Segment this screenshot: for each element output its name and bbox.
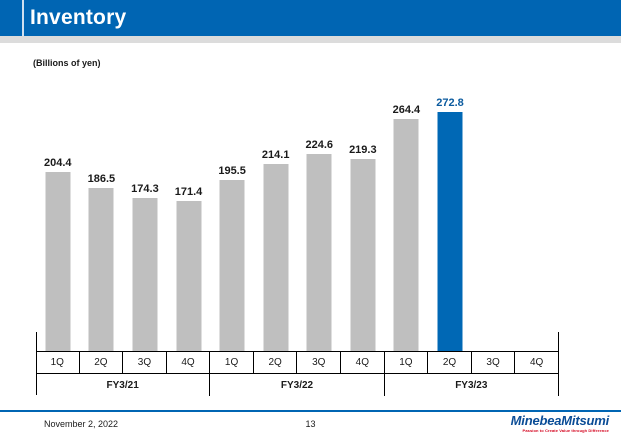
bar[interactable] (45, 172, 70, 351)
bar[interactable] (394, 119, 419, 351)
slide-header-bar: Inventory (0, 0, 621, 36)
axis-table: 1Q2Q3Q4Q1Q2Q3Q4Q1Q2Q3Q4Q FY3/21FY3/22FY3… (36, 351, 559, 396)
axis-fiscal-year-label: FY3/21 (36, 374, 210, 396)
axis-quarter-label: 3Q (123, 352, 167, 373)
bar-value-label: 272.8 (436, 97, 464, 109)
header-underline (0, 36, 621, 43)
axis-fiscal-year-label: FY3/23 (385, 374, 559, 396)
bar[interactable] (220, 180, 245, 351)
axis-quarter-label: 4Q (167, 352, 211, 373)
axis-quarter-label: 1Q (210, 352, 254, 373)
bar[interactable] (350, 159, 375, 351)
axis-tick-right (558, 332, 559, 351)
axis-quarter-label: 4Q (341, 352, 385, 373)
bar[interactable] (176, 201, 201, 351)
bar-slot: 186.5 (80, 70, 124, 351)
bar[interactable] (132, 198, 157, 351)
bar-slot: 264.4 (385, 70, 429, 351)
axis-quarter-label: 2Q (80, 352, 124, 373)
axis-quarter-label: 4Q (515, 352, 559, 373)
bar[interactable] (263, 164, 288, 352)
bar-slot: 224.6 (297, 70, 341, 351)
logo-wordmark: MinebeaMitsumi (511, 414, 609, 428)
bar-value-label: 214.1 (262, 149, 290, 161)
bar-value-label: 171.4 (175, 186, 203, 198)
bar-value-label: 186.5 (88, 173, 116, 185)
bar-value-label: 264.4 (393, 104, 421, 116)
axis-quarter-label: 1Q (36, 352, 80, 373)
bar-slot: 195.5 (210, 70, 254, 351)
axis-quarter-label: 3Q (297, 352, 341, 373)
bar-slot: 219.3 (341, 70, 385, 351)
axis-quarter-label: 3Q (472, 352, 516, 373)
company-logo: MinebeaMitsumi Passion to Create Value t… (511, 414, 609, 434)
logo-tagline: Passion to Create Value through Differen… (511, 428, 609, 434)
bar[interactable] (89, 188, 114, 351)
bar-slot: 204.4 (36, 70, 80, 351)
axis-quarter-label: 1Q (385, 352, 429, 373)
fiscal-year-label-row: FY3/21FY3/22FY3/23 (36, 373, 559, 396)
bar-value-label: 195.5 (218, 165, 246, 177)
bar-slot: 174.3 (123, 70, 167, 351)
bar-slot: 171.4 (167, 70, 211, 351)
bar-slot: 272.8 (428, 70, 472, 351)
footer-divider (0, 410, 621, 412)
chart-unit-label: (Billions of yen) (33, 58, 101, 68)
bar-chart-plot: 204.4186.5174.3171.4195.5214.1224.6219.3… (36, 70, 559, 351)
header-accent-line (22, 0, 24, 36)
quarter-label-row: 1Q2Q3Q4Q1Q2Q3Q4Q1Q2Q3Q4Q (36, 351, 559, 373)
bar-value-label: 219.3 (349, 144, 377, 156)
axis-tick-left (36, 332, 37, 351)
bar[interactable] (437, 112, 462, 351)
bar[interactable] (307, 154, 332, 351)
page-title: Inventory (30, 4, 126, 32)
bar-value-label: 204.4 (44, 157, 72, 169)
bar-value-label: 174.3 (131, 183, 159, 195)
bar-slot: 214.1 (254, 70, 298, 351)
axis-fiscal-year-label: FY3/22 (210, 374, 384, 396)
bar-slot (472, 70, 516, 351)
axis-quarter-label: 2Q (254, 352, 298, 373)
axis-quarter-label: 2Q (428, 352, 472, 373)
bar-value-label: 224.6 (305, 139, 333, 151)
bar-slot (515, 70, 559, 351)
